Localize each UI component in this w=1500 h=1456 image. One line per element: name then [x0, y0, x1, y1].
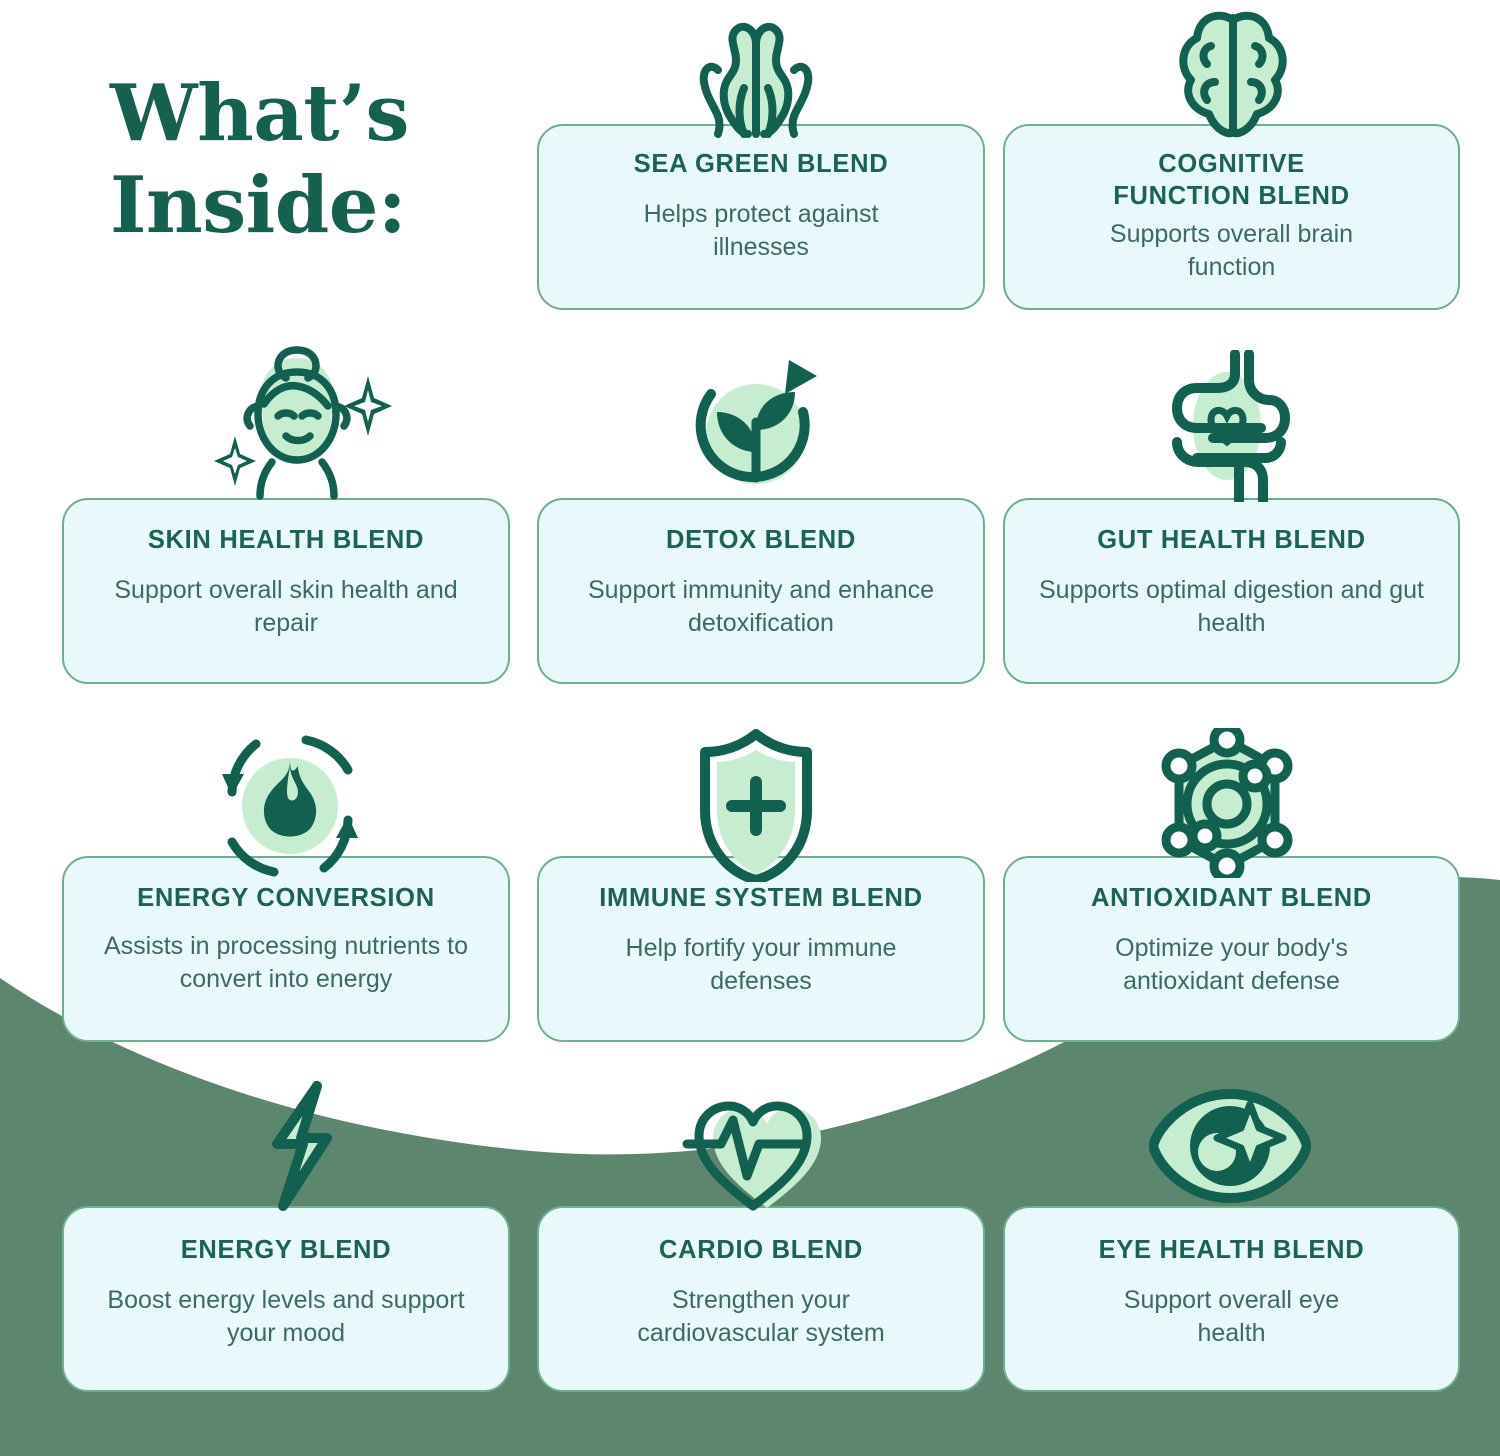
brain-icon [1163, 6, 1303, 144]
card-title: ENERGY BLEND [181, 1234, 392, 1266]
icon-lightning-bolt-wrap [246, 1076, 354, 1212]
icon-shield-plus-wrap [694, 726, 818, 882]
card-title: SKIN HEALTH BLEND [148, 524, 424, 556]
card-title: ENERGY CONVERSION [137, 882, 435, 914]
icon-leaf-recycle-wrap [680, 352, 832, 502]
card-description: Support overall eye health [1102, 1284, 1362, 1349]
card-title: EYE HEALTH BLEND [1099, 1234, 1365, 1266]
card-description: Supports overall brain function [1067, 218, 1397, 283]
card-cardio-blend[interactable]: CARDIO BLEND Strengthen your cardiovascu… [537, 1206, 985, 1392]
page-title: What’s Inside: [110, 68, 510, 252]
card-title: COGNITIVE FUNCTION BLEND [1087, 148, 1377, 212]
card-description: Support immunity and enhance detoxificat… [581, 574, 941, 639]
card-cognitive-function-blend[interactable]: COGNITIVE FUNCTION BLEND Supports overal… [1003, 124, 1460, 310]
icon-heart-pulse-wrap [680, 1078, 840, 1218]
icon-intestine-heart-wrap [1152, 350, 1302, 502]
card-antioxidant-blend[interactable]: ANTIOXIDANT BLEND Optimize your body's a… [1003, 856, 1460, 1042]
card-title: GUT HEALTH BLEND [1097, 524, 1366, 556]
eye-sparkle-icon [1149, 1080, 1311, 1214]
flame-cycle-icon [206, 730, 370, 880]
card-energy-conversion[interactable]: ENERGY CONVERSION Assists in processing … [62, 856, 510, 1042]
intestine-heart-icon [1153, 350, 1301, 502]
icon-face-sparkle-wrap [200, 342, 400, 502]
card-description: Assists in processing nutrients to conve… [82, 930, 490, 995]
card-description: Support overall skin health and repair [86, 574, 486, 639]
icon-brain-wrap [1160, 4, 1306, 144]
heart-pulse-icon [681, 1080, 839, 1218]
card-energy-blend[interactable]: ENERGY BLEND Boost energy levels and sup… [62, 1206, 510, 1392]
lightning-bolt-icon [247, 1078, 353, 1212]
leaf-recycle-icon [681, 354, 831, 502]
card-title: DETOX BLEND [666, 524, 856, 556]
card-title: SEA GREEN BLEND [634, 148, 889, 180]
icon-flame-cycle-wrap [205, 728, 371, 880]
card-description: Boost energy levels and support your moo… [101, 1284, 471, 1349]
card-eye-health-blend[interactable]: EYE HEALTH BLEND Support overall eye hea… [1003, 1206, 1460, 1392]
icon-seaweed-wrap [686, 8, 826, 144]
page-title-line-2: Inside: [110, 160, 510, 252]
card-description: Optimize your body's antioxidant defense [1062, 932, 1402, 997]
card-skin-health-blend[interactable]: SKIN HEALTH BLEND Support overall skin h… [62, 498, 510, 684]
card-description: Strengthen your cardiovascular system [591, 1284, 931, 1349]
card-description: Helps protect against illnesses [596, 198, 926, 263]
card-title: CARDIO BLEND [659, 1234, 863, 1266]
card-description: Help fortify your immune defenses [611, 932, 911, 997]
card-title: IMMUNE SYSTEM BLEND [599, 882, 923, 914]
card-title: ANTIOXIDANT BLEND [1091, 882, 1372, 914]
card-detox-blend[interactable]: DETOX BLEND Support immunity and enhance… [537, 498, 985, 684]
seaweed-icon [690, 10, 822, 144]
card-description: Supports optimal digestion and gut healt… [1023, 574, 1440, 639]
infographic-root: What’s Inside: [0, 0, 1500, 1456]
face-sparkle-icon [202, 344, 398, 502]
card-gut-health-blend[interactable]: GUT HEALTH BLEND Supports optimal digest… [1003, 498, 1460, 684]
icon-molecule-cell-wrap [1152, 726, 1302, 878]
page-title-line-1: What’s [110, 68, 510, 160]
card-sea-green-blend[interactable]: SEA GREEN BLEND Helps protect against il… [537, 124, 985, 310]
card-immune-system-blend[interactable]: IMMUNE SYSTEM BLEND Help fortify your im… [537, 856, 985, 1042]
shield-plus-icon [695, 728, 817, 882]
icon-eye-sparkle-wrap [1148, 1078, 1312, 1214]
molecule-cell-icon [1153, 728, 1301, 878]
